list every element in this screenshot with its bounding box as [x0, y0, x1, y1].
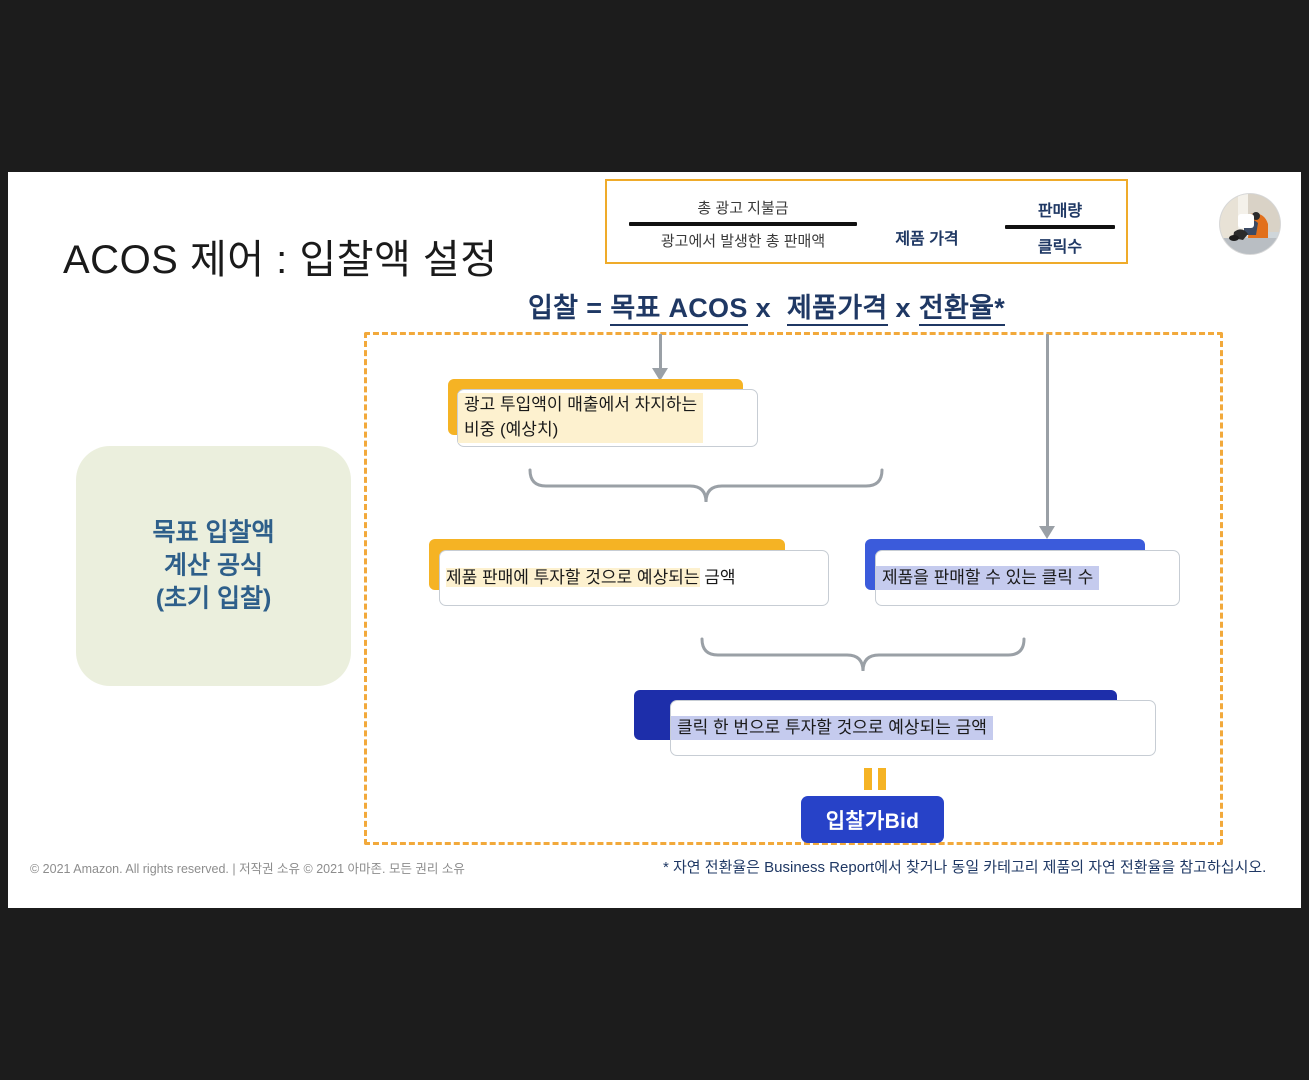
product-price-term: 제품 가격 [867, 225, 987, 249]
formula-term-target-acos: 목표 ACOS [610, 293, 747, 326]
clicks-flow-box: 제품을 판매할 수 있는 클릭 수 [865, 539, 1180, 611]
acos-fraction-denominator: 광고에서 발생한 총 판매액 [629, 228, 857, 253]
equals-sign-glyph-icon [864, 768, 888, 790]
conversion-rate-fraction: 판매량 클릭수 [1005, 195, 1115, 259]
formula-operator-2: x [896, 293, 911, 323]
result-flow-box-card: 클릭 한 번으로 투자할 것으로 예상되는 금액 [670, 700, 1156, 756]
result-flow-box-label: 클릭 한 번으로 투자할 것으로 예상되는 금액 [671, 716, 993, 741]
acos-flow-box: 광고 투입액이 매출에서 차지하는 비중 (예상치) [448, 379, 758, 449]
target-bid-formula-panel: 목표 입찰액 계산 공식 (초기 입찰) [76, 446, 351, 686]
copyright-footer: © 2021 Amazon. All rights reserved. | 저작… [30, 858, 465, 877]
clicks-flow-box-label: 제품을 판매할 수 있는 클릭 수 [876, 566, 1099, 591]
bid-result-badge: 입찰가Bid [801, 796, 944, 843]
panel-line-3: (초기 입찰) [76, 583, 351, 616]
brace-acos-to-spend [526, 468, 886, 512]
acos-fraction: 총 광고 지불금 광고에서 발생한 총 판매액 [629, 195, 857, 253]
spend-flow-box-label-highlighted: 제품 판매에 투자할 것으로 예상되는 [446, 568, 700, 587]
slide-canvas: ACOS 제어 : 입찰액 설정 총 광고 지불금 광고 [8, 172, 1301, 908]
spend-flow-box-card: 제품 판매에 투자할 것으로 예상되는 금액 [439, 550, 829, 606]
arrow-down-to-clicks-box [1035, 334, 1059, 541]
spend-flow-box-label-plain: 금액 [700, 568, 736, 587]
panel-line-1: 목표 입찰액 [76, 517, 351, 550]
arrow-down-to-acos-box [648, 334, 672, 382]
fraction-divider-line [1005, 225, 1115, 229]
formula-lhs: 입찰 [528, 293, 578, 323]
formula-term-conversion-rate: 전환율* [919, 293, 1005, 326]
spend-flow-box-label: 제품 판매에 투자할 것으로 예상되는 금액 [440, 566, 742, 591]
target-bid-formula-panel-text: 목표 입찰액 계산 공식 (초기 입찰) [76, 517, 351, 616]
brace-spend-clicks-to-result [698, 637, 1028, 679]
panel-line-2: 계산 공식 [76, 550, 351, 583]
footnote-conversion-rate: * 자연 전환율은 Business Report에서 찾거나 동일 카테고리 … [663, 856, 1266, 877]
formula-term-product-price: 제품가격 [787, 293, 888, 326]
formula-equals: = [586, 293, 602, 323]
conversion-fraction-denominator: 클릭수 [1005, 231, 1115, 259]
fraction-divider-line [629, 222, 857, 226]
slide-viewer: ACOS 제어 : 입찰액 설정 총 광고 지불금 광고 [0, 0, 1309, 1080]
conversion-fraction-numerator: 판매량 [1005, 195, 1115, 223]
bid-result-badge-label: 입찰가Bid [826, 805, 920, 835]
spend-flow-box: 제품 판매에 투자할 것으로 예상되는 금액 [429, 539, 829, 611]
formula-operator-1: x [756, 293, 771, 323]
acos-fraction-numerator: 총 광고 지불금 [629, 195, 857, 220]
page-title: ACOS 제어 : 입찰액 설정 [63, 227, 498, 285]
result-flow-box: 클릭 한 번으로 투자할 것으로 예상되는 금액 [634, 690, 1156, 760]
acos-definition-panel: 총 광고 지불금 광고에서 발생한 총 판매액 제품 가격 판매량 클릭수 [605, 179, 1128, 264]
bid-formula: 입찰=목표 ACOSx제품가격x전환율* [528, 286, 1005, 325]
acos-flow-box-label: 광고 투입액이 매출에서 차지하는 비중 (예상치) [458, 393, 703, 442]
person-in-chair-photo-avatar-icon [1220, 194, 1280, 254]
acos-flow-box-card: 광고 투입액이 매출에서 차지하는 비중 (예상치) [457, 389, 758, 447]
clicks-flow-box-card: 제품을 판매할 수 있는 클릭 수 [875, 550, 1180, 606]
